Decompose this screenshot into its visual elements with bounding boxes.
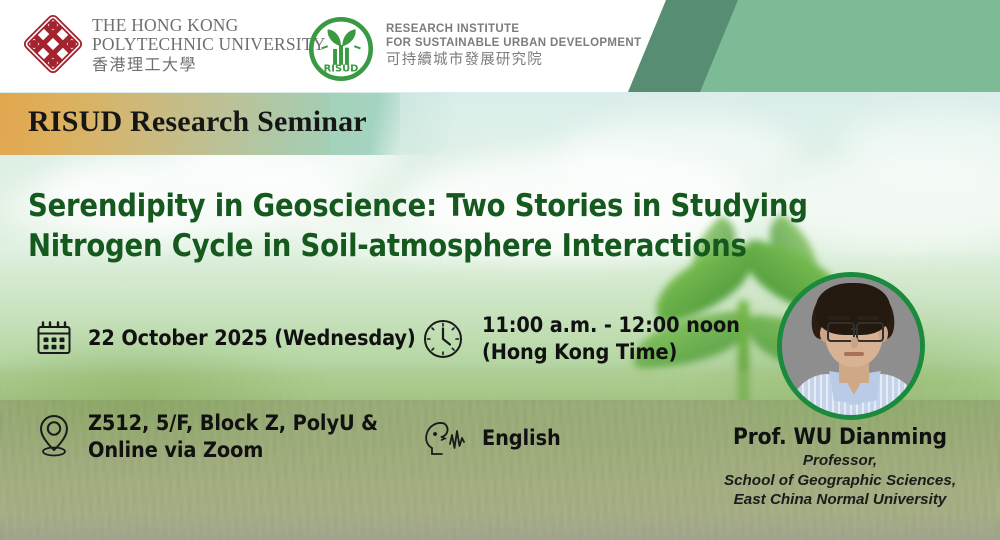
language-text: English <box>482 425 561 452</box>
date-text: 22 October 2025 (Wednesday) <box>88 325 416 352</box>
calendar-icon <box>34 318 74 358</box>
portrait-mouth <box>844 352 864 356</box>
bottom-shade <box>0 514 1000 540</box>
time-value: 11:00 a.m. - 12:00 noon <box>482 312 740 339</box>
risud-logo-block: RISUD RESEARCH INSTITUTE FOR SUSTAINABLE… <box>308 16 641 82</box>
date-row: 22 October 2025 (Wednesday) <box>34 318 416 358</box>
polyu-logo-block: THE HONG KONG POLYTECHNIC UNIVERSITY 香港理… <box>24 14 326 75</box>
language-row: English <box>422 418 561 458</box>
risud-circle-logo-icon: RISUD <box>308 16 374 82</box>
speaker-photo <box>777 272 925 420</box>
seminar-title-line1: Serendipity in Geoscience: Two Stories i… <box>28 186 882 226</box>
header-bar: THE HONG KONG POLYTECHNIC UNIVERSITY 香港理… <box>0 0 1000 92</box>
seminar-title: Serendipity in Geoscience: Two Stories i… <box>28 186 882 266</box>
portrait-glasses <box>856 322 884 342</box>
location-pin-icon <box>34 412 74 458</box>
polyu-name-chinese: 香港理工大學 <box>92 55 326 75</box>
date-value: 22 October 2025 (Wednesday) <box>88 325 416 352</box>
seminar-title-line2: Nitrogen Cycle in Soil-atmosphere Intera… <box>28 226 882 266</box>
risud-name-chinese: 可持續城市發展研究院 <box>386 51 641 70</box>
speaker-institution: East China Normal University <box>690 490 990 510</box>
portrait-glasses-bridge <box>851 328 856 330</box>
language-value: English <box>482 425 561 452</box>
speaker-portrait-image <box>782 277 920 415</box>
speaker-affiliation: Professor, School of Geographic Sciences… <box>690 451 990 510</box>
header-light-green-shape <box>700 0 1000 92</box>
speaker-info: Prof. WU Dianming Professor, School of G… <box>690 423 990 510</box>
polyu-knot-logo-icon <box>24 14 82 74</box>
venue-line2: Online via Zoom <box>88 437 378 464</box>
venue-line1: Z512, 5/F, Block Z, PolyU & <box>88 410 378 437</box>
time-row: 11:00 a.m. - 12:00 noon (Hong Kong Time) <box>420 312 740 366</box>
portrait-nose <box>851 337 858 348</box>
speaking-head-icon <box>422 418 468 458</box>
svg-text:RISUD: RISUD <box>324 63 359 74</box>
clock-icon <box>420 316 466 362</box>
speaker-name: Prof. WU Dianming <box>690 423 990 451</box>
risud-name-line2: FOR SUSTAINABLE URBAN DEVELOPMENT <box>386 36 641 50</box>
time-zone: (Hong Kong Time) <box>482 339 740 366</box>
speaker-title: Professor, <box>690 451 990 471</box>
polyu-name-line1: THE HONG KONG <box>92 16 326 35</box>
seminar-poster: THE HONG KONG POLYTECHNIC UNIVERSITY 香港理… <box>0 0 1000 540</box>
cloud <box>560 115 800 195</box>
polyu-name-line2: POLYTECHNIC UNIVERSITY <box>92 35 326 54</box>
venue-text: Z512, 5/F, Block Z, PolyU & Online via Z… <box>88 410 378 464</box>
seminar-banner-label: RISUD Research Seminar <box>28 105 367 139</box>
risud-name-line1: RESEARCH INSTITUTE <box>386 22 641 36</box>
time-text: 11:00 a.m. - 12:00 noon (Hong Kong Time) <box>482 312 740 366</box>
speaker-department: School of Geographic Sciences, <box>690 471 990 491</box>
portrait-eyebrow <box>828 316 850 320</box>
venue-row: Z512, 5/F, Block Z, PolyU & Online via Z… <box>34 410 378 464</box>
portrait-eyebrow <box>857 316 879 320</box>
